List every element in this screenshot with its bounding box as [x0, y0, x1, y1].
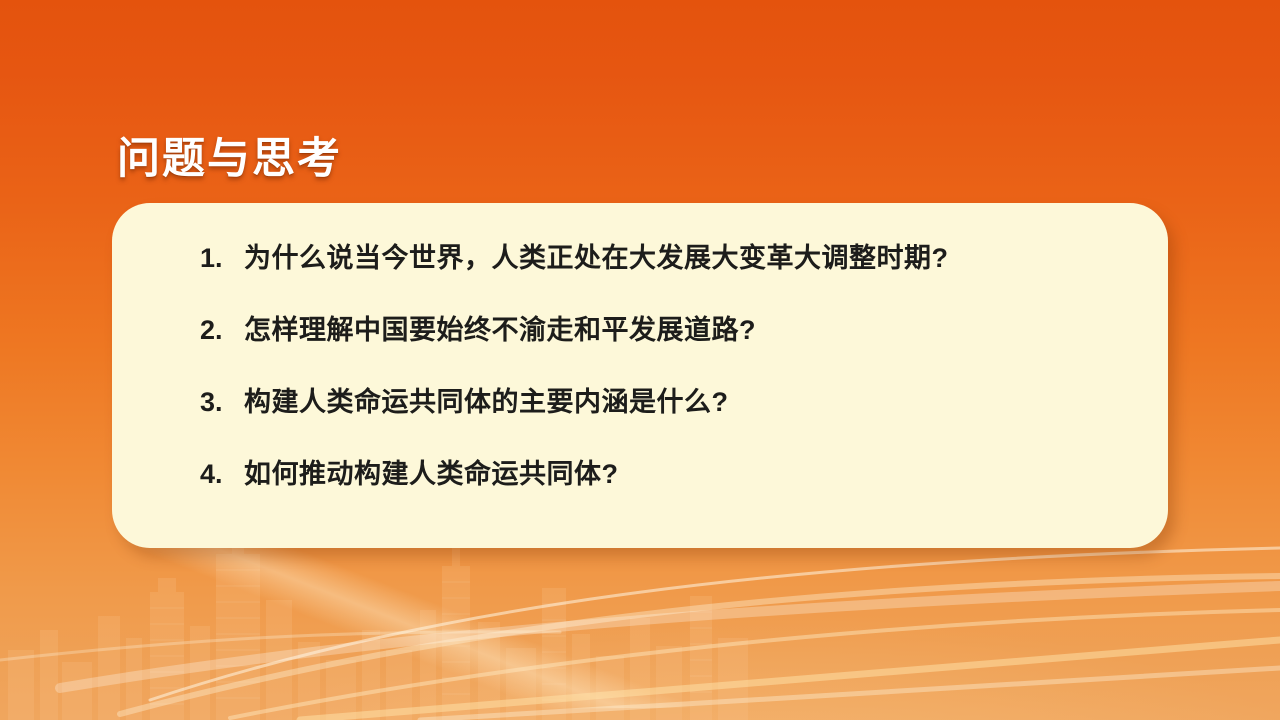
- list-item: 3. 构建人类命运共同体的主要内涵是什么?: [200, 380, 1138, 452]
- list-item: 2. 怎样理解中国要始终不渝走和平发展道路?: [200, 308, 1138, 380]
- list-item-text: 为什么说当今世界，人类正处在大发展大变革大调整时期?: [244, 236, 1138, 275]
- list-item-number: 2.: [200, 315, 244, 346]
- question-card: 1. 为什么说当今世界，人类正处在大发展大变革大调整时期? 2. 怎样理解中国要…: [112, 203, 1168, 548]
- diagonal-light-streak: [0, 536, 861, 714]
- list-item-number: 4.: [200, 459, 244, 490]
- list-item: 1. 为什么说当今世界，人类正处在大发展大变革大调整时期?: [200, 236, 1138, 308]
- list-item: 4. 如何推动构建人类命运共同体?: [200, 452, 1138, 524]
- list-item-text: 怎样理解中国要始终不渝走和平发展道路?: [244, 308, 1138, 347]
- city-skyline-graphic: [0, 530, 760, 720]
- question-list: 1. 为什么说当今世界，人类正处在大发展大变革大调整时期? 2. 怎样理解中国要…: [200, 236, 1138, 524]
- bottom-glow: [0, 520, 1280, 720]
- list-item-text: 如何推动构建人类命运共同体?: [244, 452, 1138, 491]
- presentation-slide: 问题与思考 1. 为什么说当今世界，人类正处在大发展大变革大调整时期? 2. 怎…: [0, 0, 1280, 720]
- list-item-number: 3.: [200, 387, 244, 418]
- list-item-number: 1.: [200, 243, 244, 274]
- list-item-text: 构建人类命运共同体的主要内涵是什么?: [244, 380, 1138, 419]
- page-title: 问题与思考: [117, 136, 342, 183]
